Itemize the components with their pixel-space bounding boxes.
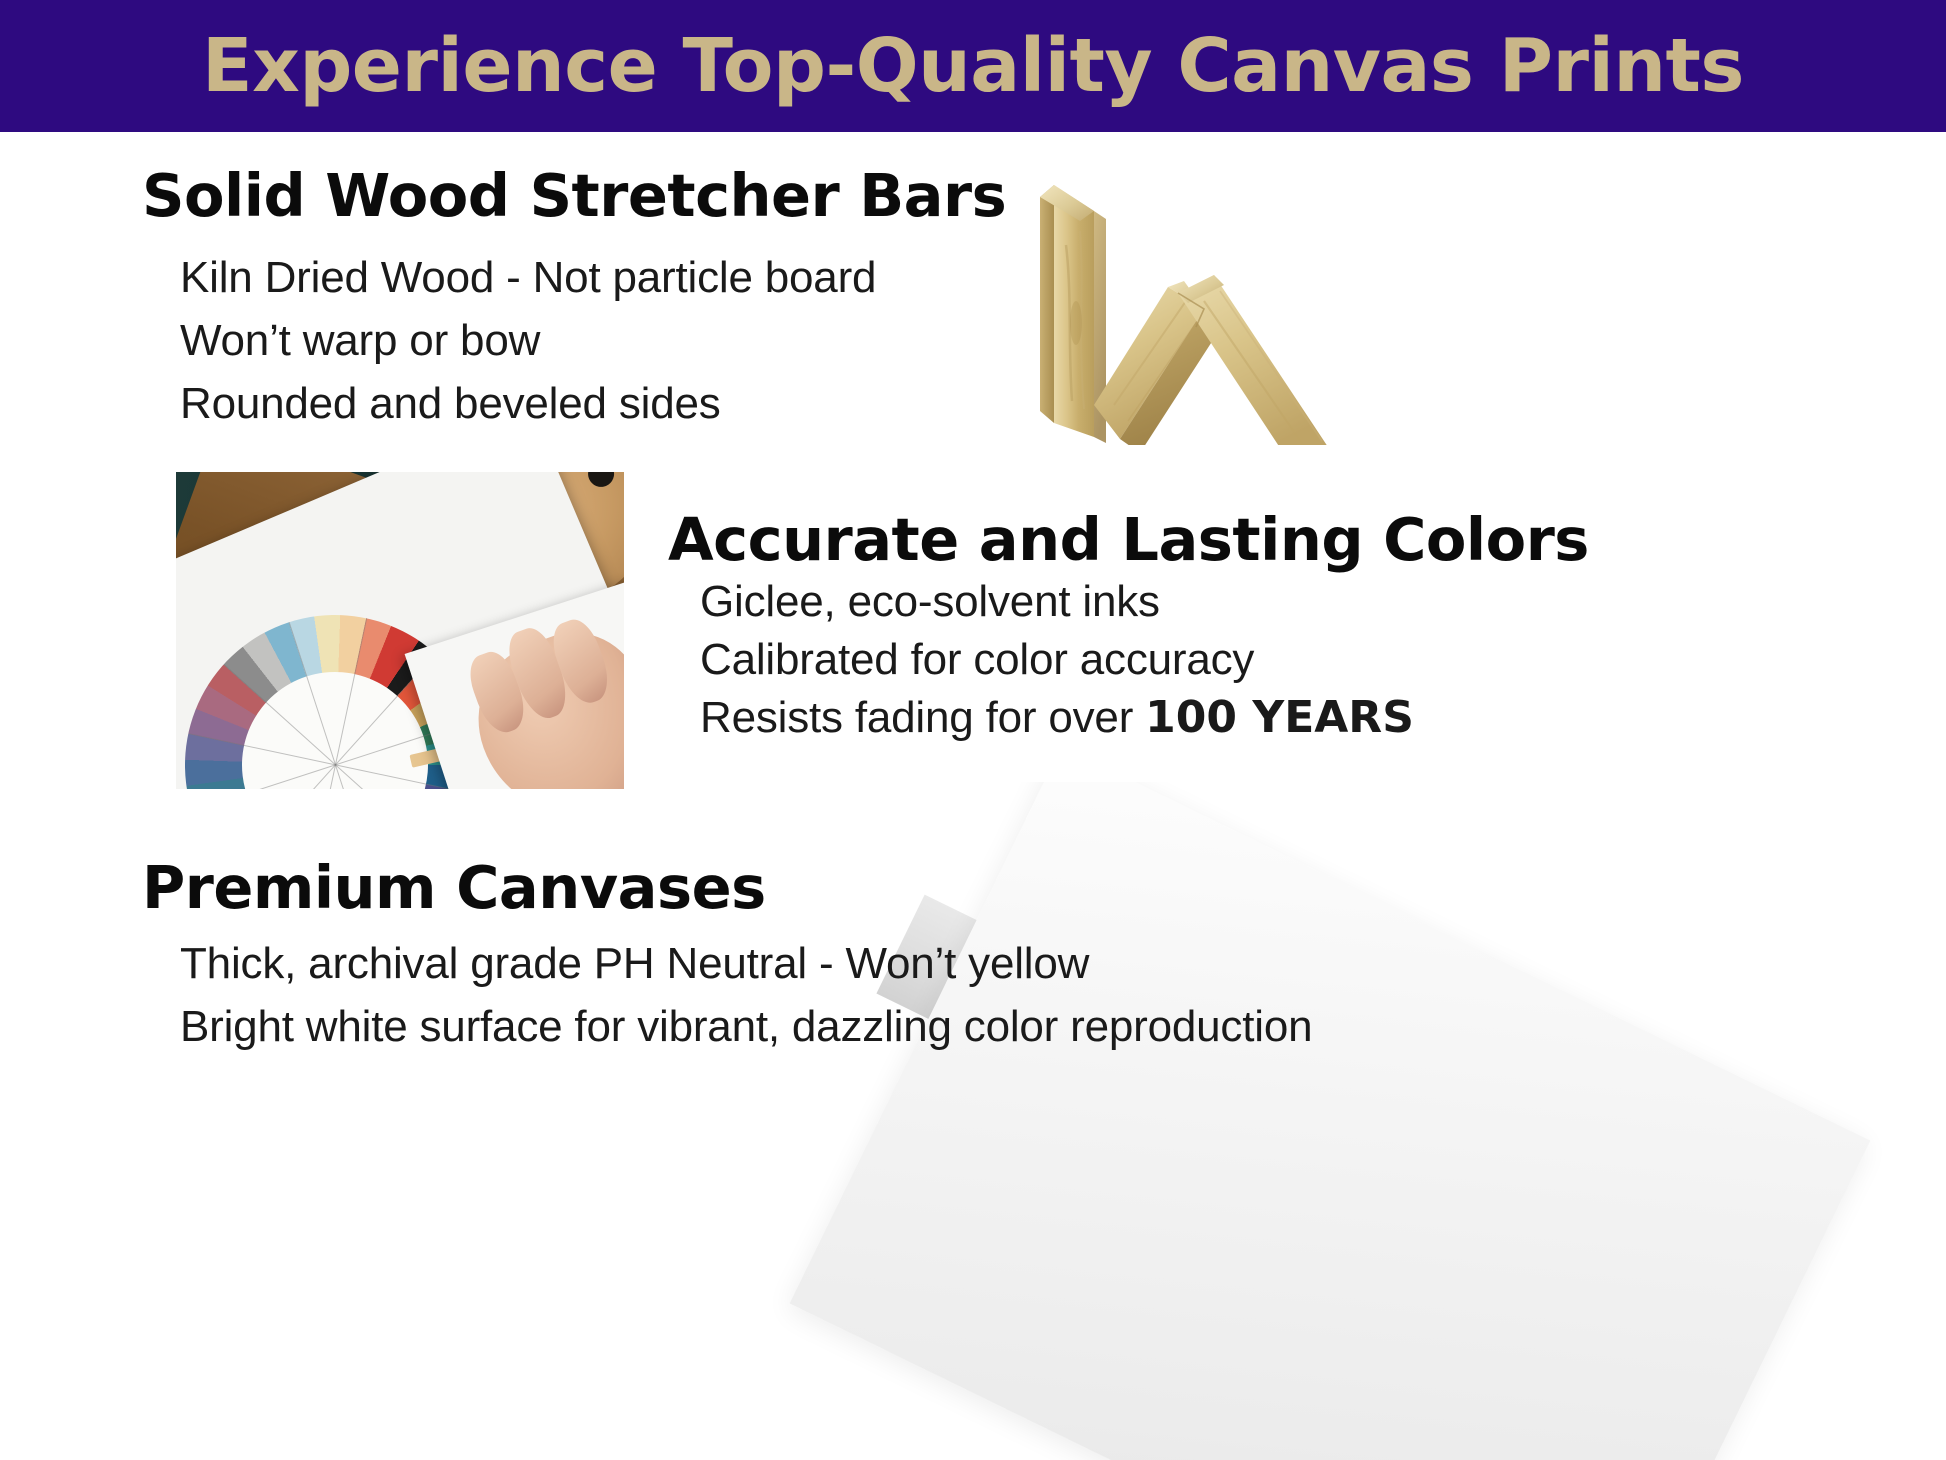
bullet-text: Resists fading for over bbox=[700, 693, 1145, 742]
color-wheel-photo bbox=[176, 472, 624, 789]
bullet-item-with-emphasis: Resists fading for over 100 YEARS bbox=[700, 696, 1414, 740]
blank-white-canvas-image bbox=[760, 782, 1946, 1460]
bullet-item: Bright white surface for vibrant, dazzli… bbox=[180, 1005, 1312, 1049]
bullet-emphasis-100-years: 100 YEARS bbox=[1145, 692, 1414, 743]
wood-stretcher-bar-corner-image bbox=[1028, 155, 1348, 445]
section-heading-accurate-and-lasting-colors: Accurate and Lasting Colors bbox=[668, 510, 1589, 569]
photo-sleeve-button bbox=[586, 472, 617, 490]
wood-stretcher-bar-svg bbox=[1028, 155, 1348, 445]
bullet-item: Won’t warp or bow bbox=[180, 319, 540, 363]
section-heading-premium-canvases: Premium Canvases bbox=[142, 858, 766, 917]
canvas-corner-notch bbox=[1443, 861, 1526, 933]
bullet-item: Rounded and beveled sides bbox=[180, 382, 721, 426]
canvas-side-edge bbox=[1203, 1084, 1556, 1460]
bullet-item: Kiln Dried Wood - Not particle board bbox=[180, 256, 876, 300]
canvas-front-face bbox=[790, 782, 1871, 1460]
header-banner: Experience Top-Quality Canvas Prints bbox=[0, 0, 1946, 132]
bullet-item: Thick, archival grade PH Neutral - Won’t… bbox=[180, 942, 1089, 986]
section-heading-solid-wood-stretcher-bars: Solid Wood Stretcher Bars bbox=[142, 166, 1006, 225]
bullet-item: Calibrated for color accuracy bbox=[700, 638, 1254, 682]
bullet-item: Giclee, eco-solvent inks bbox=[700, 580, 1160, 624]
page-title: Experience Top-Quality Canvas Prints bbox=[202, 29, 1744, 103]
